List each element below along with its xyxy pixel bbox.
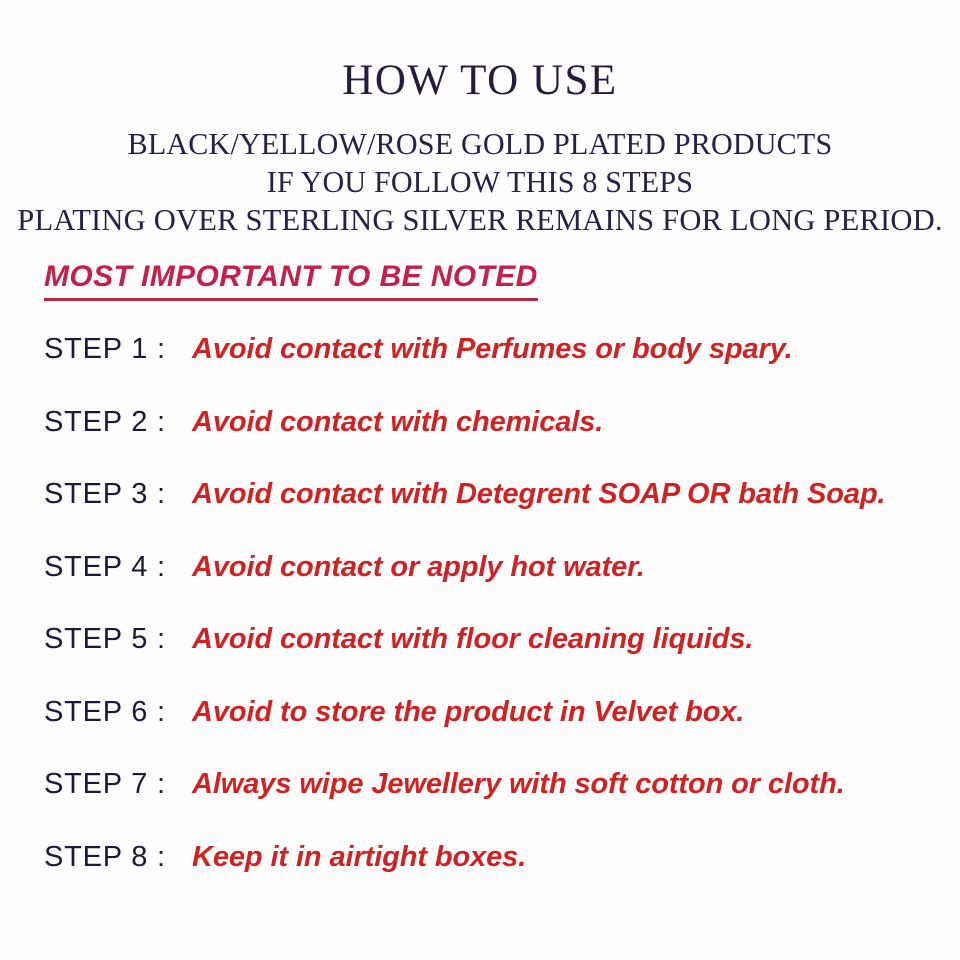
step-text-2: Avoid contact with chemicals. <box>192 406 603 439</box>
step-label-8: STEP 8 : <box>44 841 166 874</box>
step-row: STEP 7 : Always wipe Jewellery with soft… <box>0 768 960 841</box>
steps-list: STEP 1 : Avoid contact with Perfumes or … <box>0 333 960 913</box>
step-row: STEP 2 : Avoid contact with chemicals. <box>0 406 960 479</box>
notice-heading: MOST IMPORTANT TO BE NOTED <box>44 262 538 292</box>
notice-heading-block: MOST IMPORTANT TO BE NOTED <box>44 262 538 301</box>
step-row: STEP 3 : Avoid contact with Detegrent SO… <box>0 478 960 551</box>
step-label-6: STEP 6 : <box>44 696 166 729</box>
subtitle-line-2: IF YOU FOLLOW THIS 8 STEPS <box>14 163 945 201</box>
subtitle-block: BLACK/YELLOW/ROSE GOLD PLATED PRODUCTS I… <box>0 125 960 238</box>
subtitle-line-3: PLATING OVER STERLING SILVER REMAINS FOR… <box>7 201 953 239</box>
step-text-3: Avoid contact with Detegrent SOAP OR bat… <box>192 478 886 511</box>
header: HOW TO USE BLACK/YELLOW/ROSE GOLD PLATED… <box>0 0 960 239</box>
step-label-5: STEP 5 : <box>44 623 166 656</box>
step-row: STEP 5 : Avoid contact with floor cleani… <box>0 623 960 696</box>
step-row: STEP 4 : Avoid contact or apply hot wate… <box>0 551 960 624</box>
step-text-7: Always wipe Jewellery with soft cotton o… <box>192 768 845 801</box>
step-label-7: STEP 7 : <box>44 768 166 801</box>
page-title: HOW TO USE <box>0 58 960 103</box>
step-text-5: Avoid contact with floor cleaning liquid… <box>192 623 753 656</box>
notice-underline <box>44 298 538 301</box>
step-text-4: Avoid contact or apply hot water. <box>192 551 645 584</box>
step-text-8: Keep it in airtight boxes. <box>192 841 526 874</box>
step-row: STEP 6 : Avoid to store the product in V… <box>0 696 960 769</box>
step-row: STEP 8 : Keep it in airtight boxes. <box>0 841 960 914</box>
step-label-1: STEP 1 : <box>44 333 166 366</box>
step-text-1: Avoid contact with Perfumes or body spar… <box>192 333 793 366</box>
step-label-3: STEP 3 : <box>44 478 166 511</box>
step-label-4: STEP 4 : <box>44 551 166 584</box>
step-text-6: Avoid to store the product in Velvet box… <box>192 696 744 729</box>
step-row: STEP 1 : Avoid contact with Perfumes or … <box>0 333 960 406</box>
subtitle-line-1: BLACK/YELLOW/ROSE GOLD PLATED PRODUCTS <box>14 125 945 163</box>
how-to-use-poster: HOW TO USE BLACK/YELLOW/ROSE GOLD PLATED… <box>0 0 960 960</box>
step-label-2: STEP 2 : <box>44 406 166 439</box>
